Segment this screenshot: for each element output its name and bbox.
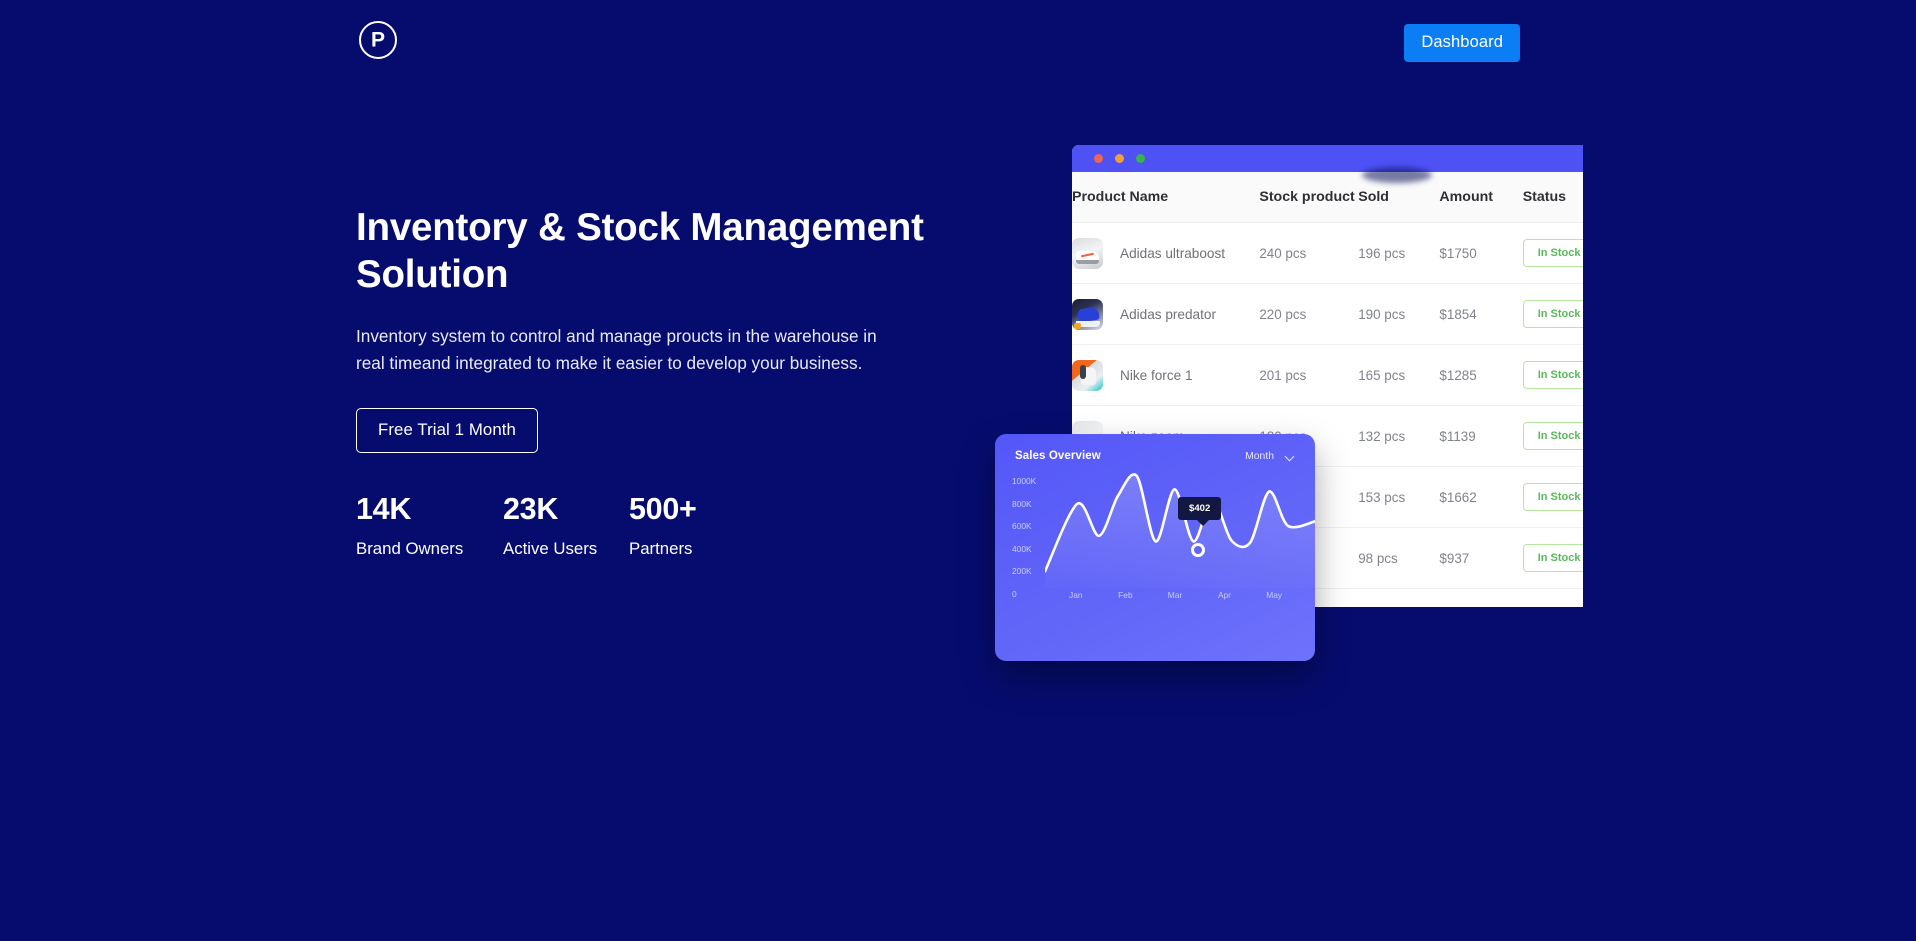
close-dot-icon[interactable]	[1094, 154, 1103, 163]
sold-value: 132 pcs	[1358, 406, 1439, 467]
top-navbar: P Dashboard	[0, 0, 1916, 85]
chart-data-point-marker[interactable]	[1191, 543, 1205, 557]
decorative-shadow	[1362, 167, 1432, 183]
stat-value: 23K	[503, 492, 629, 527]
free-trial-button[interactable]: Free Trial 1 Month	[356, 408, 538, 453]
maximize-dot-icon[interactable]	[1136, 154, 1145, 163]
table-header-row: Product Name Stock product Sold Amount S…	[1072, 172, 1583, 223]
sold-value: 153 pcs	[1358, 467, 1439, 528]
status-badge: In Stock	[1523, 239, 1583, 267]
sales-line-series	[1045, 466, 1315, 588]
product-name: Adidas ultraboost	[1120, 246, 1225, 261]
logo-letter: P	[371, 29, 385, 50]
chart-header: Sales Overview Month	[995, 434, 1315, 462]
table-row[interactable]: Adidas predator 220 pcs 190 pcs $1854 In…	[1072, 284, 1583, 345]
stat-item: 500+ Partners	[629, 492, 697, 559]
window-titlebar	[1072, 145, 1583, 172]
stat-label: Active Users	[503, 539, 629, 559]
y-tick: 0	[1012, 589, 1052, 612]
chart-plot-area: 1000K 800K 600K 400K 200K 0	[995, 462, 1315, 647]
stock-value: 201 pcs	[1259, 345, 1358, 406]
period-label: Month	[1245, 451, 1274, 462]
x-tick: Apr	[1200, 590, 1250, 600]
stat-label: Partners	[629, 539, 697, 559]
product-thumbnail	[1072, 299, 1103, 330]
amount-value: $1854	[1439, 284, 1522, 345]
stock-value: 240 pcs	[1259, 223, 1358, 284]
column-header-stock: Stock product	[1259, 172, 1358, 223]
sold-value: 165 pcs	[1358, 345, 1439, 406]
x-tick: Mar	[1150, 590, 1200, 600]
x-tick: May	[1249, 590, 1299, 600]
minimize-dot-icon[interactable]	[1115, 154, 1124, 163]
stat-value: 500+	[629, 492, 697, 527]
amount-value: $1139	[1439, 406, 1522, 467]
product-thumbnail	[1072, 360, 1103, 391]
period-selector[interactable]: Month	[1245, 451, 1295, 462]
chart-title: Sales Overview	[1015, 450, 1101, 462]
stats-row: 14K Brand Owners 23K Active Users 500+ P…	[356, 492, 996, 559]
x-tick: Jan	[1051, 590, 1101, 600]
product-name: Nike force 1	[1120, 368, 1193, 383]
status-badge: In Stock	[1523, 422, 1583, 450]
table-row[interactable]: Nike force 1 201 pcs 165 pcs $1285 In St…	[1072, 345, 1583, 406]
column-header-status: Status	[1523, 172, 1583, 223]
amount-value: $1285	[1439, 345, 1522, 406]
stat-value: 14K	[356, 492, 503, 527]
column-header-amount: Amount	[1439, 172, 1522, 223]
chart-tooltip: $402	[1178, 497, 1221, 520]
chevron-down-icon	[1286, 452, 1295, 461]
sold-value: 98 pcs	[1358, 528, 1439, 589]
amount-value: $1750	[1439, 223, 1522, 284]
line-chart-svg	[1045, 466, 1315, 588]
status-badge: In Stock	[1523, 544, 1583, 572]
sold-value: 196 pcs	[1358, 223, 1439, 284]
brand-logo[interactable]: P	[356, 18, 400, 62]
product-thumbnail	[1072, 238, 1103, 269]
status-badge: In Stock	[1523, 483, 1583, 511]
product-name: Adidas predator	[1120, 307, 1216, 322]
column-header-product-name: Product Name	[1072, 172, 1259, 223]
x-tick: Feb	[1101, 590, 1151, 600]
sold-value: 190 pcs	[1358, 284, 1439, 345]
circled-p-logo-icon: P	[359, 21, 397, 59]
stock-value: 220 pcs	[1259, 284, 1358, 345]
status-badge: In Stock	[1523, 300, 1583, 328]
table-row[interactable]: Adidas ultraboost 240 pcs 196 pcs $1750 …	[1072, 223, 1583, 284]
page-title: Inventory & Stock Management Solution	[356, 205, 981, 299]
stat-item: 14K Brand Owners	[356, 492, 503, 559]
status-badge: In Stock	[1523, 361, 1583, 389]
stat-label: Brand Owners	[356, 539, 503, 559]
amount-value: $1662	[1439, 467, 1522, 528]
landing-page: P Dashboard Inventory & Stock Management…	[0, 0, 1916, 941]
hero-description: Inventory system to control and manage p…	[356, 323, 901, 377]
hero-section: Inventory & Stock Management Solution In…	[356, 205, 996, 559]
dashboard-button[interactable]: Dashboard	[1404, 24, 1520, 62]
amount-value: $937	[1439, 528, 1522, 589]
stat-item: 23K Active Users	[503, 492, 629, 559]
sales-overview-card: Sales Overview Month 1000K 800K 600K 400…	[995, 434, 1315, 661]
x-axis-tick-labels: Jan Feb Mar Apr May	[1051, 590, 1299, 600]
